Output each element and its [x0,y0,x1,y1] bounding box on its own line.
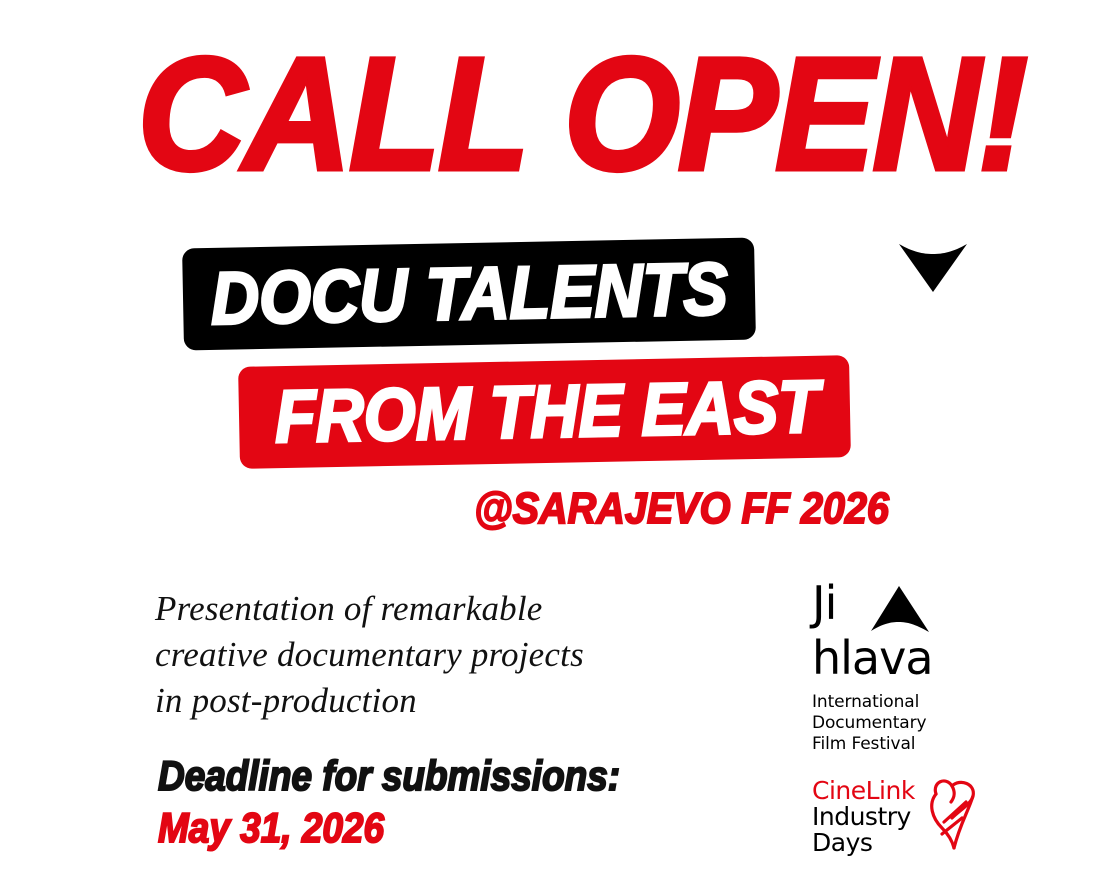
jihlava-logo-word-hlava: hlava [812,634,942,682]
jihlava-triangle-mark-icon [869,584,931,636]
jihlava-logo-top-row: Ji [812,586,942,632]
jihlava-subtitle-line-2: Documentary [812,713,942,734]
deadline-label: Deadline for submissions: [158,750,620,802]
jihlava-subtitle-line-1: International [812,692,942,713]
jihlava-logo: Ji hlava International Documentary Film … [812,586,942,755]
cinelink-logo-line-3: Days [812,830,915,856]
jihlava-subtitle-line-3: Film Festival [812,734,942,755]
jihlava-triangle-mark-inverted-icon [897,240,969,296]
banner-docu-talents: DOCU TALENTS [182,238,756,351]
description-line-1: Presentation of remarkable [155,586,584,632]
cinelink-logo-words: CineLink Industry Days [812,778,915,856]
jihlava-logo-word-ji: Ji [812,580,836,626]
deadline-block: Deadline for submissions: May 31, 2026 [158,750,683,854]
poster-canvas: CALL OPEN! DOCU TALENTS FROM THE EAST @S… [0,0,1111,895]
heart-icon [916,772,978,858]
deadline-date: May 31, 2026 [158,802,620,854]
festival-line: @SARAJEVO FF 2026 [474,487,889,531]
banner-from-the-east: FROM THE EAST [238,355,851,469]
cinelink-logo-line-2: Industry [812,804,915,830]
description-text: Presentation of remarkable creative docu… [155,586,584,724]
page-title: CALL OPEN! [138,34,1026,194]
banner-from-the-east-label: FROM THE EAST [274,370,819,454]
cinelink-logo-line-1: CineLink [812,778,915,804]
jihlava-logo-subtitle: International Documentary Film Festival [812,692,942,755]
description-line-2: creative documentary projects [155,632,584,678]
description-line-3: in post-production [155,678,584,724]
cinelink-industry-days-logo: CineLink Industry Days [812,778,977,870]
banner-docu-talents-label: DOCU TALENTS [210,252,728,336]
